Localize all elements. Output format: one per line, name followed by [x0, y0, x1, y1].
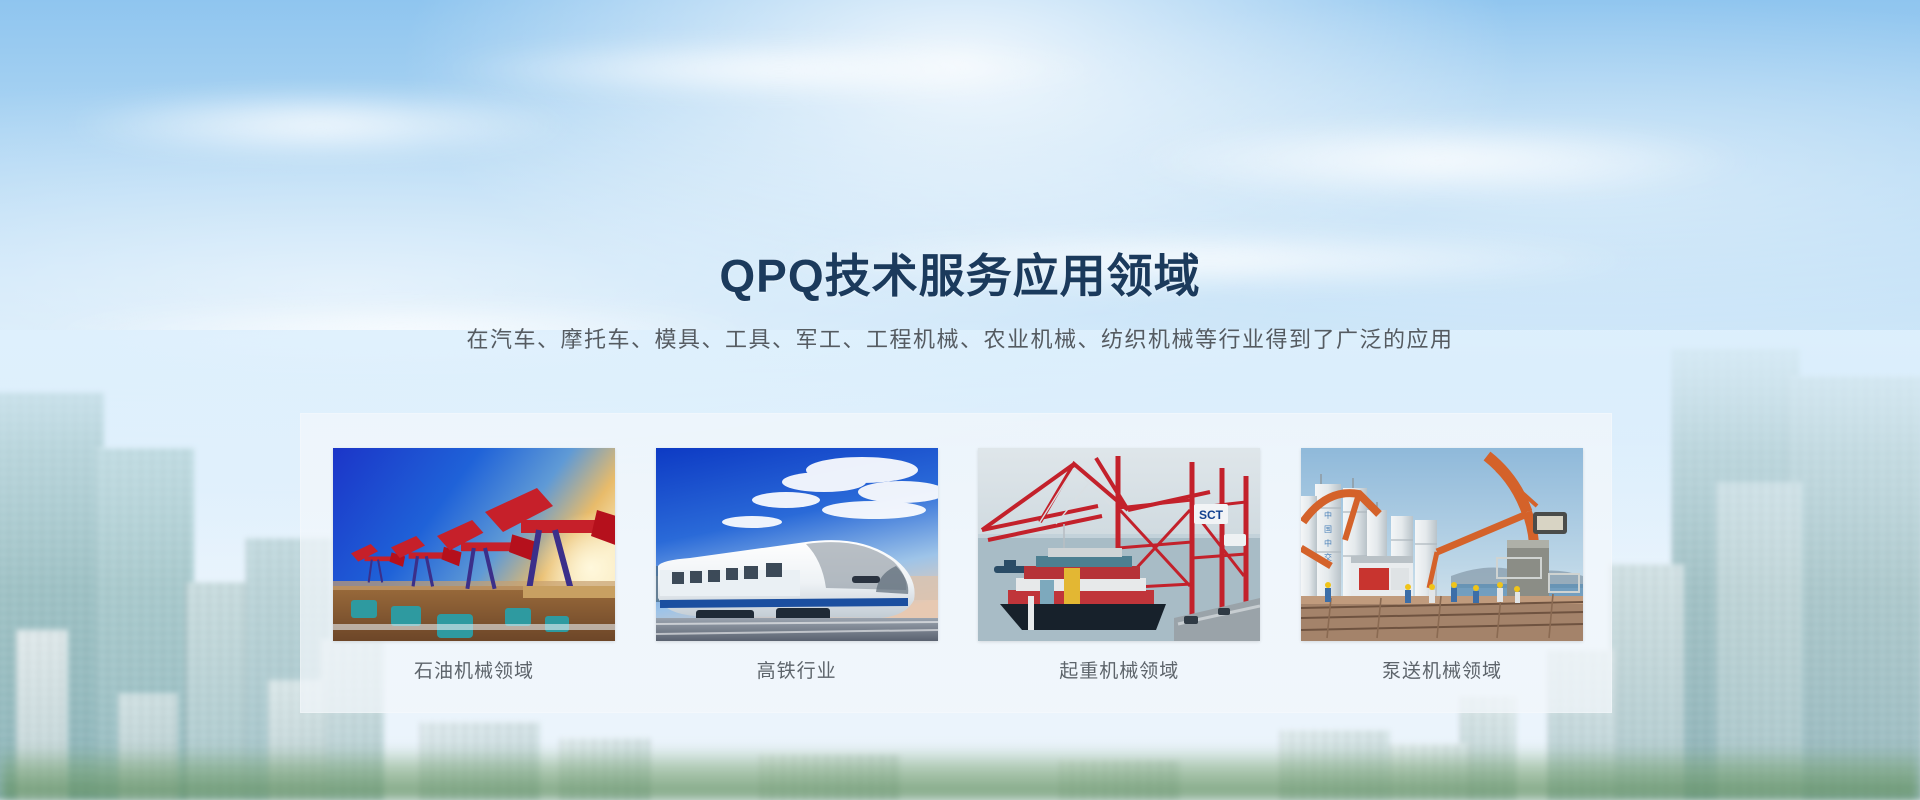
svg-text:中: 中 [1324, 510, 1332, 520]
page-subtitle: 在汽车、摩托车、模具、工具、军工、工程机械、农业机械、纺织机械等行业得到了广泛的… [0, 322, 1920, 354]
card-caption: 石油机械领域 [333, 656, 615, 683]
list-item[interactable]: 石油机械领域 [333, 448, 615, 678]
page-title: QPQ技术服务应用领域 [0, 240, 1920, 306]
oil-pumpjack-illustration [333, 448, 615, 641]
list-item[interactable]: SCT [978, 448, 1260, 678]
concrete-pump-illustration: 中国 中交 [1301, 448, 1583, 641]
svg-text:SCT: SCT [1199, 508, 1224, 522]
svg-text:国: 国 [1324, 525, 1332, 534]
card-caption: 泵送机械领域 [1301, 656, 1583, 683]
list-item[interactable]: 高铁行业 [656, 448, 938, 678]
svg-text:中: 中 [1324, 538, 1332, 548]
application-card-list: 石油机械领域 [333, 448, 1583, 678]
hero-content: QPQ技术服务应用领域 在汽车、摩托车、模具、工具、军工、工程机械、农业机械、纺… [0, 0, 1920, 800]
oil-pumpjack-photo[interactable] [333, 448, 615, 641]
high-speed-train-illustration [656, 448, 938, 641]
card-caption: 起重机械领域 [978, 656, 1260, 683]
high-speed-train-photo[interactable] [656, 448, 938, 641]
port-crane-illustration: SCT [978, 448, 1260, 641]
port-container-crane-photo[interactable]: SCT [978, 448, 1260, 641]
concrete-pump-plant-photo[interactable]: 中国 中交 [1301, 448, 1583, 641]
card-caption: 高铁行业 [656, 656, 938, 683]
list-item[interactable]: 中国 中交 [1301, 448, 1583, 678]
